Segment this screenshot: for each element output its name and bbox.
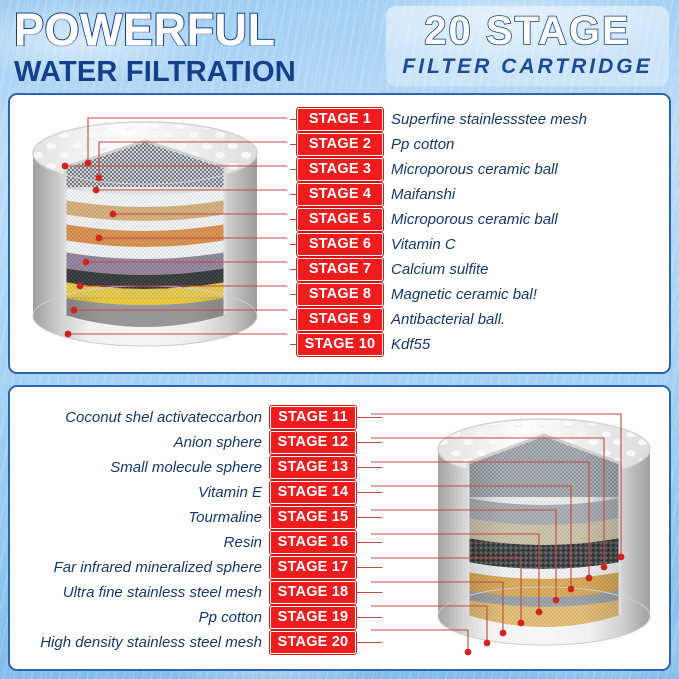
header: POWERFUL WATER FILTRATION 20 STAGE FILTE… [0, 0, 679, 92]
stage-row[interactable]: STAGE 10 Kdf55 [290, 332, 662, 357]
stage-badge: STAGE 8 [297, 283, 383, 306]
stage-row[interactable]: Coconut shel activateccarbon STAGE 11 [22, 405, 382, 430]
stage-label: Far infrared mineralized sphere [54, 558, 262, 577]
stage-row[interactable]: STAGE 4 Maifanshi [290, 182, 662, 207]
panel-stages-11-20: Coconut shel activateccarbon STAGE 11 An… [8, 385, 671, 671]
stage-count-badge-block: 20 STAGE FILTER CARTRIDGE [386, 6, 669, 86]
leader-line [356, 617, 382, 618]
stage-row[interactable]: STAGE 3 Microporous ceramic ball [290, 157, 662, 182]
stage-badge: STAGE 20 [270, 631, 356, 654]
stage-label: Kdf55 [391, 335, 430, 354]
stage-label: Vitamin E [198, 483, 262, 502]
leader-line [356, 567, 382, 568]
stage-label: Microporous ceramic ball [391, 160, 558, 179]
stage-label: Ultra fine stainless steel mesh [63, 583, 262, 602]
stage-row[interactable]: STAGE 7 Calcium sulfite [290, 257, 662, 282]
leader-line [356, 542, 382, 543]
title-filter-cartridge: FILTER CARTRIDGE [386, 54, 669, 80]
stage-badge: STAGE 7 [297, 258, 383, 281]
leader-line [356, 467, 382, 468]
stage-row[interactable]: Ultra fine stainless steel mesh STAGE 18 [22, 580, 382, 605]
leader-line [290, 319, 297, 320]
stage-list-top: STAGE 1 Superfine stainlessstee mesh STA… [290, 107, 662, 357]
stage-row[interactable]: Tourmaline STAGE 15 [22, 505, 382, 530]
stage-badge: STAGE 5 [297, 208, 383, 231]
leader-line [356, 642, 382, 643]
stage-row[interactable]: STAGE 5 Microporous ceramic ball [290, 207, 662, 232]
stage-row[interactable]: STAGE 6 Vitamin C [290, 232, 662, 257]
leader-line [356, 517, 382, 518]
stage-badge: STAGE 16 [270, 531, 356, 554]
stage-row[interactable]: Small molecule sphere STAGE 13 [22, 455, 382, 480]
stage-row[interactable]: Pp cotton STAGE 19 [22, 605, 382, 630]
stage-row[interactable]: Anion sphere STAGE 12 [22, 430, 382, 455]
stage-badge: STAGE 1 [297, 108, 383, 131]
stage-label: Coconut shel activateccarbon [65, 408, 262, 427]
stage-label: Calcium sulfite [391, 260, 489, 279]
stage-label: Pp cotton [199, 608, 262, 627]
stage-badge: STAGE 14 [270, 481, 356, 504]
title-20-stage: 20 STAGE [386, 8, 669, 54]
leader-line [290, 119, 297, 120]
stage-badge: STAGE 10 [297, 333, 383, 356]
leader-line [356, 592, 382, 593]
stage-row[interactable]: High density stainless steel mesh STAGE … [22, 630, 382, 655]
stage-label: Resin [224, 533, 262, 552]
stage-row[interactable]: STAGE 1 Superfine stainlessstee mesh [290, 107, 662, 132]
title-powerful: POWERFUL [14, 4, 374, 56]
stage-label: Microporous ceramic ball [391, 210, 558, 229]
stage-badge: STAGE 12 [270, 431, 356, 454]
leader-line [290, 194, 297, 195]
leader-line [290, 269, 297, 270]
leader-line [290, 244, 297, 245]
stage-list-bottom: Coconut shel activateccarbon STAGE 11 An… [22, 405, 382, 655]
filter-cartridge-cutaway-top [18, 101, 273, 369]
leader-line [356, 492, 382, 493]
stage-label: Pp cotton [391, 135, 454, 154]
stage-label: Maifanshi [391, 185, 455, 204]
leader-line [290, 219, 297, 220]
stage-badge: STAGE 13 [270, 456, 356, 479]
stage-label: Vitamin C [391, 235, 456, 254]
stage-badge: STAGE 15 [270, 506, 356, 529]
stage-row[interactable]: STAGE 2 Pp cotton [290, 132, 662, 157]
stage-badge: STAGE 2 [297, 133, 383, 156]
leader-line [290, 344, 297, 345]
title-water-filtration: WATER FILTRATION [14, 56, 374, 88]
leader-line [356, 442, 382, 443]
leader-line [356, 417, 382, 418]
stage-badge: STAGE 19 [270, 606, 356, 629]
stage-row[interactable]: Far infrared mineralized sphere STAGE 17 [22, 555, 382, 580]
stage-row[interactable]: Vitamin E STAGE 14 [22, 480, 382, 505]
leader-line [290, 144, 297, 145]
stage-label: Small molecule sphere [110, 458, 262, 477]
stage-badge: STAGE 11 [270, 406, 356, 429]
stage-badge: STAGE 9 [297, 308, 383, 331]
leader-line [290, 294, 297, 295]
stage-row[interactable]: STAGE 8 Magnetic ceramic bal! [290, 282, 662, 307]
stage-badge: STAGE 17 [270, 556, 356, 579]
cartridge-top-svg [18, 101, 273, 369]
stage-label: Anion sphere [174, 433, 262, 452]
stage-badge: STAGE 3 [297, 158, 383, 181]
stage-badge: STAGE 4 [297, 183, 383, 206]
leader-line [290, 169, 297, 170]
stage-row[interactable]: Resin STAGE 16 [22, 530, 382, 555]
cartridge-layer-stack-top [58, 141, 238, 349]
filter-cartridge-cutaway-bottom [424, 391, 664, 668]
stage-label: Superfine stainlessstee mesh [391, 110, 587, 129]
stage-label: Antibacterial ball. [391, 310, 505, 329]
stage-label: Magnetic ceramic bal! [391, 285, 537, 304]
stage-label: High density stainless steel mesh [40, 633, 262, 652]
panel-stages-1-10: STAGE 1 Superfine stainlessstee mesh STA… [8, 93, 671, 374]
stage-row[interactable]: STAGE 9 Antibacterial ball. [290, 307, 662, 332]
cartridge-bottom-svg [424, 391, 664, 668]
stage-label: Tourmaline [188, 508, 262, 527]
stage-badge: STAGE 6 [297, 233, 383, 256]
main-title-block: POWERFUL WATER FILTRATION [14, 4, 374, 88]
stage-badge: STAGE 18 [270, 581, 356, 604]
